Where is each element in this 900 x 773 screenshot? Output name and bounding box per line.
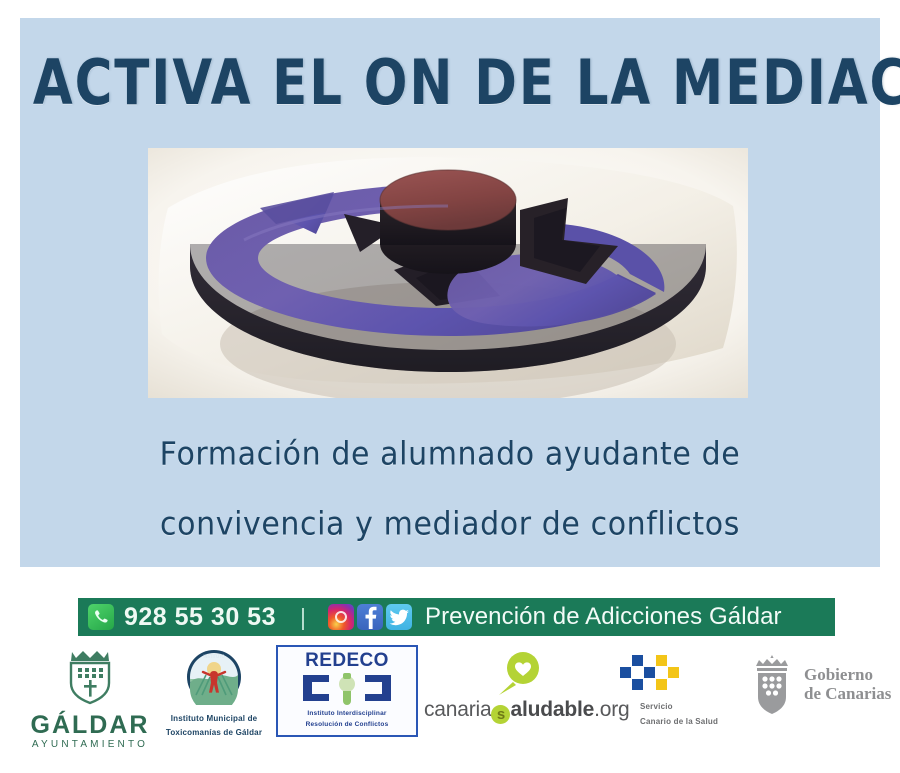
imt-emblem-icon: INSTITUTO xyxy=(186,649,242,705)
twitter-icon[interactable] xyxy=(386,604,412,630)
contact-bar: 928 55 30 53 | Prevención de Adicciones … xyxy=(78,598,835,636)
canaria-text-before: canaria xyxy=(424,698,491,721)
gobcan-line-2: de Canarias xyxy=(804,684,891,703)
galdar-logo-subtitle: AYUNTAMIENTO xyxy=(24,738,156,751)
gobcan-crown-shield-icon xyxy=(748,653,796,715)
redeco-mark-icon xyxy=(299,671,395,707)
power-symbol-photo xyxy=(148,148,748,398)
social-icons xyxy=(328,604,412,630)
logo-galdar-ayuntamiento: GÁLDAR AYUNTAMIENTO xyxy=(24,647,156,751)
poster-root: ACTIVA EL ON DE LA MEDIACIÓN xyxy=(0,0,900,773)
redeco-wordmark: REDECO xyxy=(305,651,389,671)
poster-subtitle: Formación de alumnado ayudante de conviv… xyxy=(20,420,880,560)
galdar-shield-icon xyxy=(63,647,117,705)
redeco-caption-line-1: Instituto Interdisciplinar xyxy=(307,709,386,718)
scs-caption-line-1: Servicio xyxy=(606,701,746,712)
phone-icon xyxy=(88,604,114,630)
logo-instituto-municipal-toxicomanias: INSTITUTO Instituto Municipal de Toxicom… xyxy=(155,649,273,738)
subtitle-line-1: Formación de alumnado ayudante de xyxy=(20,420,880,490)
bar-divider: | xyxy=(300,604,306,631)
scs-caption-line-2: Canario de la Salud xyxy=(606,716,746,727)
subtitle-line-2: convivencia y mediador de conflictos xyxy=(20,490,880,560)
sponsor-logo-strip: GÁLDAR AYUNTAMIENTO INSTITUTO Instituto … xyxy=(0,645,900,755)
imt-caption-line-1: Instituto Municipal de xyxy=(155,713,273,724)
canaria-saludable-wordmark: canariasaludable.org xyxy=(424,699,610,724)
facebook-icon[interactable] xyxy=(357,604,383,630)
heart-balloon-icon xyxy=(489,651,545,699)
canaria-highlight-s: s xyxy=(491,705,510,724)
gobcan-line-1: Gobierno xyxy=(804,665,891,684)
phone-number: 928 55 30 53 xyxy=(124,603,276,632)
imt-caption-line-2: Toxicomanías de Gáldar xyxy=(155,727,273,738)
galdar-logo-name: GÁLDAR xyxy=(24,712,156,738)
redeco-caption-line-2: Resolución de Conflictos xyxy=(306,720,389,729)
page-title: ACTIVA EL ON DE LA MEDIACIÓN xyxy=(33,52,867,115)
logo-gobierno-de-canarias: Gobierno de Canarias xyxy=(748,653,898,715)
logo-redeco: REDECO Instituto Interdisciplinar Resolu… xyxy=(276,645,418,737)
gobcan-wordmark: Gobierno de Canarias xyxy=(804,665,891,703)
logo-canaria-saludable: canariasaludable.org xyxy=(424,651,610,724)
svg-text:INSTITUTO: INSTITUTO xyxy=(203,654,224,659)
canaria-text-after: aludable xyxy=(510,698,594,721)
logo-servicio-canario-salud: Servicio Canario de la Salud xyxy=(606,653,746,727)
instagram-icon[interactable] xyxy=(328,604,354,630)
contact-bar-text: Prevención de Adicciones Gáldar xyxy=(425,603,782,631)
scs-squares-icon xyxy=(618,653,680,697)
